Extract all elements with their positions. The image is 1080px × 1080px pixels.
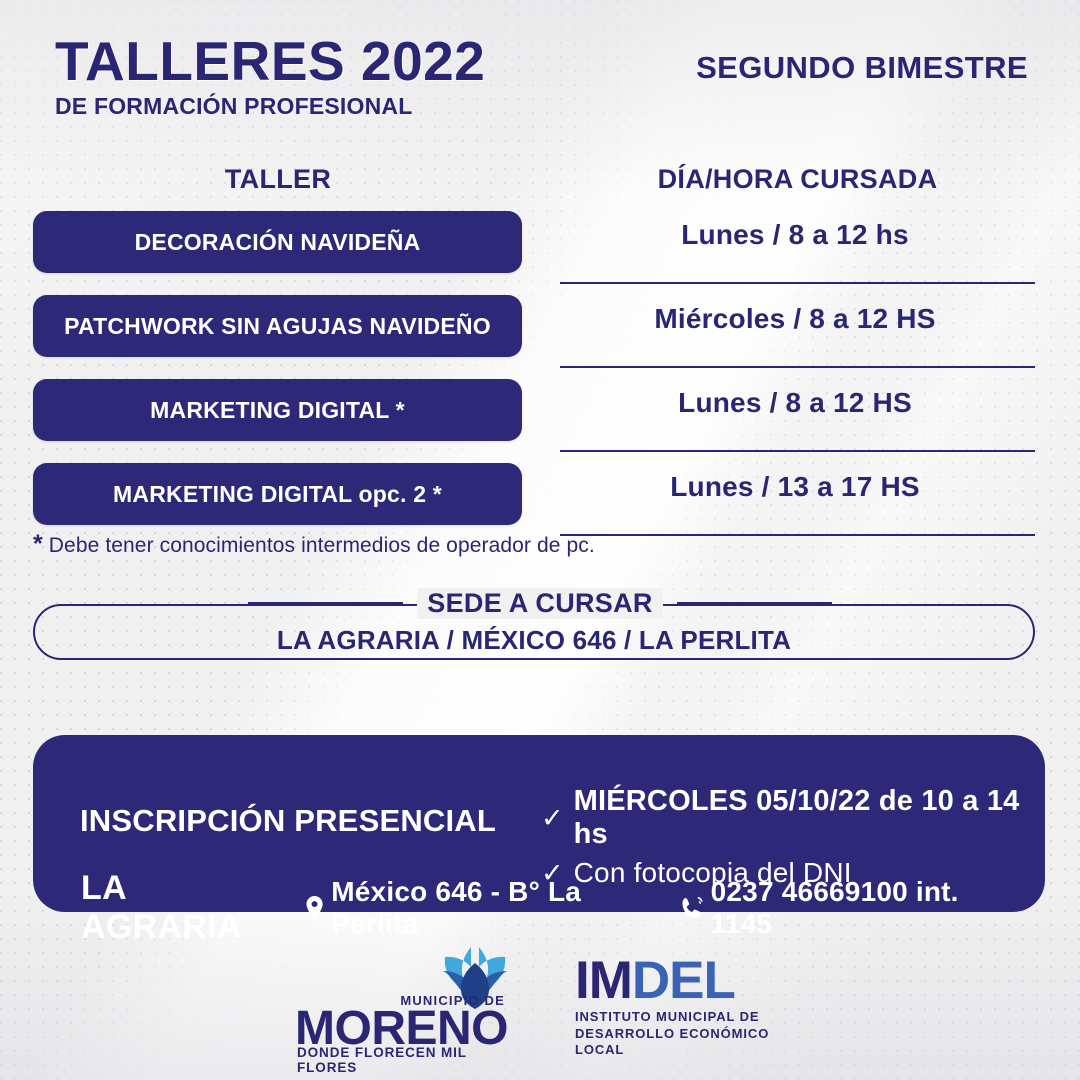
location-pin-icon <box>304 894 325 922</box>
header-left: TALLERES 2022 DE FORMACIÓN PROFESIONAL <box>55 34 485 118</box>
phone-item: 0237 46669100 int. 1145 <box>680 876 1015 940</box>
moreno-logo: MUNICIPIO DE MORENO DONDE FLORECEN MIL F… <box>295 941 527 1056</box>
list-item: ✓ MIÉRCOLES 05/10/22 de 10 a 14 hs <box>541 785 1045 851</box>
inscripcion-date: MIÉRCOLES 05/10/22 de 10 a 14 hs <box>574 785 1045 851</box>
workshop-name: MARKETING DIGITAL * <box>138 397 417 424</box>
workshop-name: MARKETING DIGITAL opc. 2 * <box>101 481 454 508</box>
footnote-text: Debe tener conocimientos intermedios de … <box>49 534 595 557</box>
imdel-word-part2: DEL <box>632 951 735 1010</box>
table-row: DECORACIÓN NAVIDEÑA Lunes / 8 a 12 hs <box>0 211 1080 295</box>
inscripcion-contact-row: LA AGRARIA México 646 - B° La Perlita 02… <box>81 869 1015 947</box>
page-subtitle: DE FORMACIÓN PROFESIONAL <box>55 95 485 118</box>
footnote-marker: * <box>33 530 43 558</box>
sede-value: LA AGRARIA / MÉXICO 646 / LA PERLITA <box>33 625 1035 656</box>
sede-rule-left <box>248 602 403 605</box>
imdel-logo: IMDEL INSTITUTO MUNICIPAL DE DESARROLLO … <box>575 956 785 1056</box>
column-header-dia-hora: DÍA/HORA CURSADA <box>560 164 1035 195</box>
inscripcion-panel: INSCRIPCIÓN PRESENCIAL ✓ MIÉRCOLES 05/10… <box>33 735 1045 912</box>
workshop-pill[interactable]: PATCHWORK SIN AGUJAS NAVIDEÑO <box>33 295 522 357</box>
check-icon: ✓ <box>541 805 564 832</box>
inscripcion-org: LA AGRARIA <box>81 869 286 947</box>
moreno-slogan: DONDE FLORECEN MIL FLORES <box>297 1045 527 1075</box>
row-divider <box>560 450 1035 452</box>
phone-icon <box>680 895 705 922</box>
page-title: TALLERES 2022 <box>55 34 485 89</box>
workshops-table: DECORACIÓN NAVIDEÑA Lunes / 8 a 12 hs PA… <box>0 211 1080 547</box>
inscripcion-phone: 0237 46669100 int. 1145 <box>711 876 1015 940</box>
imdel-wordmark: IMDEL <box>575 956 785 1006</box>
inscripcion-title: INSCRIPCIÓN PRESENCIAL <box>78 803 498 839</box>
imdel-word-part1: IM <box>575 951 632 1010</box>
inscripcion-address: México 646 - B° La Perlita <box>331 876 661 940</box>
row-divider <box>560 282 1035 284</box>
workshop-schedule: Lunes / 13 a 17 HS <box>560 471 1030 503</box>
table-row: MARKETING DIGITAL * Lunes / 8 a 12 HS <box>0 379 1080 463</box>
workshop-pill[interactable]: DECORACIÓN NAVIDEÑA <box>33 211 522 273</box>
workshop-name: PATCHWORK SIN AGUJAS NAVIDEÑO <box>52 313 503 340</box>
workshop-name: DECORACIÓN NAVIDEÑA <box>123 229 433 256</box>
workshop-pill[interactable]: MARKETING DIGITAL opc. 2 * <box>33 463 522 525</box>
imdel-tagline-line2: DESARROLLO ECONÓMICO LOCAL <box>575 1026 785 1059</box>
row-divider <box>560 366 1035 368</box>
sede-title-row: SEDE A CURSAR <box>0 588 1080 619</box>
workshop-schedule: Lunes / 8 a 12 HS <box>560 387 1030 419</box>
column-header-taller: TALLER <box>33 164 523 195</box>
sede-rule-right <box>677 602 832 605</box>
table-row: PATCHWORK SIN AGUJAS NAVIDEÑO Miércoles … <box>0 295 1080 379</box>
logo-row: MUNICIPIO DE MORENO DONDE FLORECEN MIL F… <box>0 938 1080 1056</box>
period-label: SEGUNDO BIMESTRE <box>696 50 1028 86</box>
workshop-pill[interactable]: MARKETING DIGITAL * <box>33 379 522 441</box>
sede-title: SEDE A CURSAR <box>417 588 662 619</box>
address-item: México 646 - B° La Perlita <box>304 876 662 940</box>
footnote: * Debe tener conocimientos intermedios d… <box>33 530 595 559</box>
imdel-tagline-line1: INSTITUTO MUNICIPAL DE <box>575 1009 785 1025</box>
row-divider <box>560 534 1035 536</box>
flyer-page: TALLERES 2022 DE FORMACIÓN PROFESIONAL S… <box>0 0 1080 1080</box>
workshop-schedule: Miércoles / 8 a 12 HS <box>560 303 1030 335</box>
workshop-schedule: Lunes / 8 a 12 hs <box>560 219 1030 251</box>
